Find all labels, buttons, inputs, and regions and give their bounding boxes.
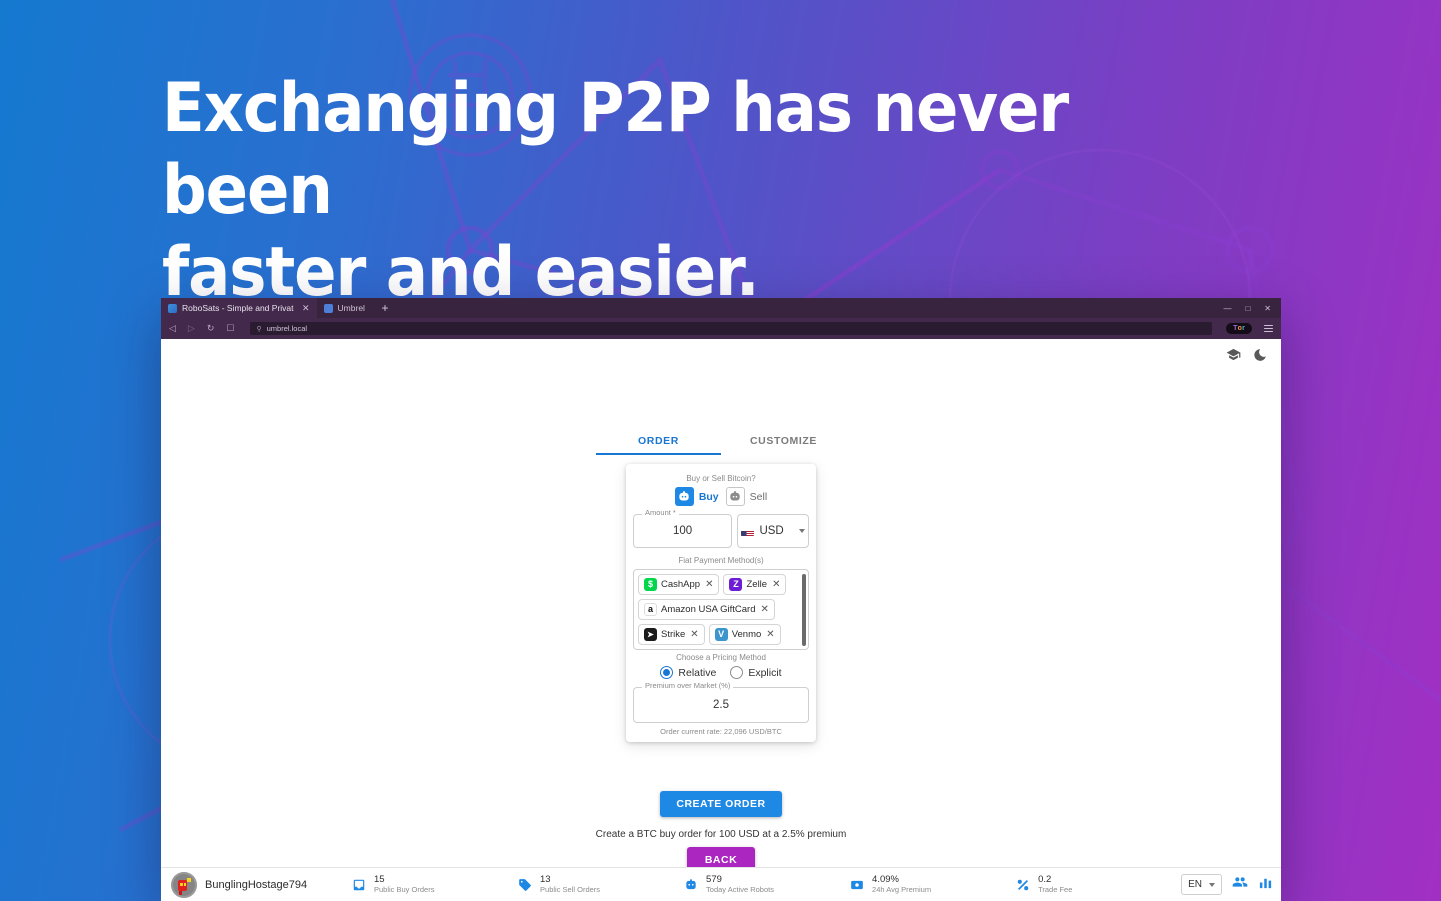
remove-icon[interactable]: ✕ xyxy=(705,580,713,590)
robot-buy-icon xyxy=(675,487,694,506)
app-statusbar: BunglingHostage794 15 Public Buy Orders xyxy=(161,867,1281,901)
stat-value: 13 xyxy=(540,875,600,885)
venmo-icon: V xyxy=(715,628,728,641)
payment-chip-amazon[interactable]: a Amazon USA GiftCard ✕ xyxy=(638,599,775,620)
language-selector[interactable]: EN xyxy=(1181,874,1222,895)
currency-select[interactable]: USD xyxy=(737,514,809,548)
stat-label: Public Buy Orders xyxy=(374,886,434,894)
us-flag-icon xyxy=(741,527,754,536)
buy-option[interactable]: Buy xyxy=(675,487,719,506)
remove-icon[interactable]: ✕ xyxy=(690,630,698,640)
new-tab-button[interactable]: + xyxy=(372,298,398,318)
stat-public-sell-orders: 13 Public Sell Orders xyxy=(517,875,683,895)
stat-trade-fee: 0.2 Trade Fee xyxy=(1015,875,1181,895)
back-icon[interactable]: ◁ xyxy=(169,324,176,333)
radio-label: Explicit xyxy=(748,667,781,679)
remove-icon[interactable]: ✕ xyxy=(772,580,780,590)
stat-public-buy-orders: 15 Public Buy Orders xyxy=(351,875,517,895)
promo-stage: Exchanging P2P has never been faster and… xyxy=(0,0,1441,901)
robot-icon xyxy=(683,877,698,892)
close-icon[interactable]: ✕ xyxy=(302,303,310,314)
payment-methods-label: Fiat Payment Method(s) xyxy=(633,556,809,565)
tabstrip-filler xyxy=(398,298,1214,318)
chip-label: Venmo xyxy=(732,630,762,640)
user-info[interactable]: BunglingHostage794 xyxy=(171,872,351,898)
payment-method-chips: $ CashApp ✕ Z Zelle ✕ a Amazon USA GiftC… xyxy=(638,574,804,645)
stat-value: 15 xyxy=(374,875,434,885)
form-tabs: ORDER CUSTOMIZE xyxy=(596,435,846,455)
amount-row: Amount * 100 xyxy=(633,514,809,548)
search-icon: ⚲ xyxy=(256,325,261,333)
app-top-icons xyxy=(1226,347,1267,362)
stat-today-active-robots: 579 Today Active Robots xyxy=(683,875,849,895)
browser-tab-title: Umbrel xyxy=(338,303,365,313)
learn-icon[interactable] xyxy=(1226,347,1241,362)
pricing-option-relative[interactable]: Relative xyxy=(660,666,716,679)
stat-value: 579 xyxy=(706,875,774,885)
chevron-down-icon xyxy=(799,529,805,533)
stat-value: 0.2 xyxy=(1038,875,1072,885)
inbox-icon xyxy=(351,877,366,892)
tab-customize[interactable]: CUSTOMIZE xyxy=(721,435,846,455)
robosats-favicon-icon xyxy=(168,304,177,313)
amount-value: 100 xyxy=(673,525,692,537)
reload-icon[interactable]: ↻ xyxy=(207,324,215,333)
browser-tab-title: RoboSats - Simple and Private Bit xyxy=(182,303,294,313)
chevron-down-icon xyxy=(1209,883,1215,887)
cta-area: CREATE ORDER Create a BTC buy order for … xyxy=(511,791,931,873)
browser-window: RoboSats - Simple and Private Bit ✕ Umbr… xyxy=(161,298,1281,901)
sell-option[interactable]: Sell xyxy=(726,487,768,506)
order-form-card: Buy or Sell Bitcoin? Buy xyxy=(626,464,816,742)
chip-label: Strike xyxy=(661,630,685,640)
avatar[interactable] xyxy=(171,872,197,898)
buy-label: Buy xyxy=(699,491,719,503)
banknote-icon xyxy=(849,877,864,892)
percent-icon xyxy=(1015,877,1030,892)
remove-icon[interactable]: ✕ xyxy=(761,605,769,615)
dark-mode-icon[interactable] xyxy=(1253,348,1267,362)
browser-tab-umbrel[interactable]: Umbrel xyxy=(317,298,372,318)
stat-label: Public Sell Orders xyxy=(540,886,600,894)
payment-scrollbar-thumb[interactable] xyxy=(802,574,806,646)
umbrel-favicon-icon xyxy=(324,304,333,313)
cashapp-icon: $ xyxy=(644,578,657,591)
strike-icon: ➤ xyxy=(644,628,657,641)
pricing-method-label: Choose a Pricing Method xyxy=(633,653,809,662)
window-controls: — □ ✕ xyxy=(1213,298,1281,318)
radio-label: Relative xyxy=(678,667,716,679)
premium-value: 2.5 xyxy=(713,699,729,711)
maximize-icon[interactable]: □ xyxy=(1245,304,1250,313)
payment-chip-cashapp[interactable]: $ CashApp ✕ xyxy=(638,574,719,595)
amount-legend: Amount * xyxy=(642,509,679,517)
sell-label: Sell xyxy=(750,491,768,503)
minimize-icon[interactable]: — xyxy=(1223,304,1231,313)
chip-label: Zelle xyxy=(746,580,767,590)
buy-sell-label: Buy or Sell Bitcoin? xyxy=(633,474,809,483)
pricing-option-explicit[interactable]: Explicit xyxy=(730,666,781,679)
payment-methods-box[interactable]: $ CashApp ✕ Z Zelle ✕ a Amazon USA GiftC… xyxy=(633,569,809,650)
stats-icon[interactable] xyxy=(1258,875,1273,895)
browser-navbar: ◁ ▷ ↻ ☐ ⚲ umbrel.local Tor xyxy=(161,318,1281,339)
zelle-icon: Z xyxy=(729,578,742,591)
buy-sell-toggle: Buy Sell xyxy=(633,487,809,506)
browser-menu-icon[interactable] xyxy=(1264,325,1273,333)
robot-sell-icon xyxy=(726,487,745,506)
browser-tabstrip: RoboSats - Simple and Private Bit ✕ Umbr… xyxy=(161,298,1281,318)
order-rate-note: Order current rate: 22,096 USD/BTC xyxy=(633,727,809,736)
pricing-method-radios: Relative Explicit xyxy=(633,666,809,679)
order-summary-text: Create a BTC buy order for 100 USD at a … xyxy=(511,829,931,840)
community-icon[interactable] xyxy=(1232,874,1248,895)
radio-unselected-icon xyxy=(730,666,743,679)
stat-label: Today Active Robots xyxy=(706,886,774,894)
stat-label: Trade Fee xyxy=(1038,886,1072,894)
amount-input[interactable]: Amount * 100 xyxy=(633,514,732,548)
radio-selected-icon xyxy=(660,666,673,679)
remove-icon[interactable]: ✕ xyxy=(766,630,774,640)
payment-chip-zelle[interactable]: Z Zelle ✕ xyxy=(723,574,786,595)
tag-icon xyxy=(517,877,532,892)
stat-value: 4.09% xyxy=(872,875,931,885)
language-value: EN xyxy=(1188,879,1202,890)
stat-24h-avg-premium: 4.09% 24h Avg Premium xyxy=(849,875,1015,895)
payment-chip-venmo[interactable]: V Venmo ✕ xyxy=(709,624,781,645)
browser-tab-robosats[interactable]: RoboSats - Simple and Private Bit ✕ xyxy=(161,298,317,318)
app-page: ORDER CUSTOMIZE Buy or Sell Bitcoin? Buy xyxy=(161,339,1281,901)
username-label: BunglingHostage794 xyxy=(205,879,307,891)
chip-label: Amazon USA GiftCard xyxy=(661,605,756,615)
forward-icon[interactable]: ▷ xyxy=(188,324,195,333)
promo-headline: Exchanging P2P has never been faster and… xyxy=(162,68,1082,314)
tor-badge[interactable]: Tor xyxy=(1226,323,1252,334)
tor-badge-char: r xyxy=(1242,325,1245,332)
bookmark-icon[interactable]: ☐ xyxy=(226,323,234,334)
chip-label: CashApp xyxy=(661,580,700,590)
window-close-icon[interactable]: ✕ xyxy=(1264,304,1271,313)
premium-input[interactable]: Premium over Market (%) 2.5 xyxy=(633,687,809,723)
create-order-button[interactable]: CREATE ORDER xyxy=(660,791,781,817)
tab-order[interactable]: ORDER xyxy=(596,435,721,455)
statusbar-right-icons xyxy=(1232,874,1273,895)
stat-label: 24h Avg Premium xyxy=(872,886,931,894)
address-bar-text: umbrel.local xyxy=(267,324,307,333)
payment-chip-strike[interactable]: ➤ Strike ✕ xyxy=(638,624,705,645)
premium-legend: Premium over Market (%) xyxy=(642,682,733,690)
amazon-icon: a xyxy=(644,603,657,616)
currency-value: USD xyxy=(759,525,783,537)
address-bar[interactable]: ⚲ umbrel.local xyxy=(250,322,1212,335)
